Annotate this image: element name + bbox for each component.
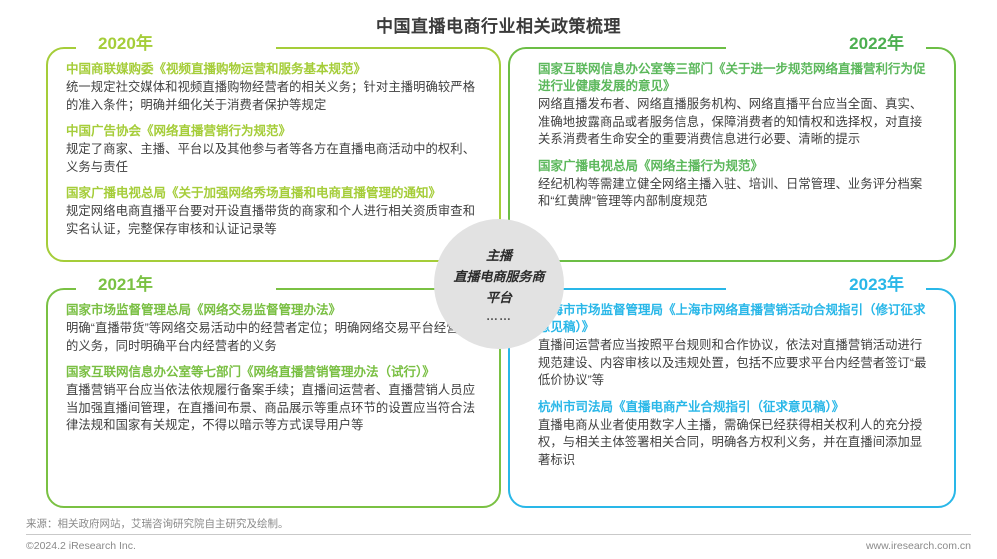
- hub-label-anchor: 主播: [486, 245, 512, 266]
- policy-title: 国家广播电视总局《网络主播行为规范》: [538, 158, 932, 175]
- policy-list-2022: 国家互联网信息办公室等三部门《关于进一步规范网络直播营利行为促进行业健康发展的意…: [510, 61, 954, 211]
- hub-label-platform: 平台: [486, 287, 512, 308]
- policy-list-2020: 中国商联媒购委《视频直播购物运营和服务基本规范》 统一规定社交媒体和视频直播购物…: [48, 61, 499, 238]
- policy-list-2023: 上海市市场监督管理局《上海市网络直播营销活动合规指引（修订征求意见稿）》 直播间…: [510, 302, 954, 469]
- policy-item: 国家市场监督管理总局《网络交易监督管理办法》 明确“直播带货”等网络交易活动中的…: [66, 302, 483, 355]
- policy-title: 国家广播电视总局《关于加强网络秀场直播和电商直播管理的通知》: [66, 185, 483, 202]
- policy-title: 国家互联网信息办公室等七部门《网络直播营销管理办法（试行）》: [66, 364, 483, 381]
- policy-description: 直播营销平台应当依法依规履行备案手续；直播间运营者、直播营销人员应当加强直播间管…: [66, 382, 483, 435]
- year-label-2022: 2022年: [849, 34, 904, 54]
- policy-card-2022: 2022年 国家互联网信息办公室等三部门《关于进一步规范网络直播营利行为促进行业…: [508, 47, 956, 262]
- center-hub-circle: 主播 直播电商服务商 平台 ……: [434, 219, 564, 349]
- policy-list-2021: 国家市场监督管理总局《网络交易监督管理办法》 明确“直播带货”等网络交易活动中的…: [48, 302, 499, 435]
- policy-item: 国家互联网信息办公室等七部门《网络直播营销管理办法（试行）》 直播营销平台应当依…: [66, 364, 483, 435]
- policy-item: 国家广播电视总局《关于加强网络秀场直播和电商直播管理的通知》 规定网络电商直播平…: [66, 185, 483, 238]
- policy-card-2020: 2020年 中国商联媒购委《视频直播购物运营和服务基本规范》 统一规定社交媒体和…: [46, 47, 501, 262]
- policy-title: 国家互联网信息办公室等三部门《关于进一步规范网络直播营利行为促进行业健康发展的意…: [538, 61, 932, 95]
- year-label-2023: 2023年: [849, 275, 904, 295]
- policy-description: 明确“直播带货”等网络交易活动中的经营者定位；明确网络交易平台经营者的义务，同时…: [66, 320, 483, 355]
- year-label-2020: 2020年: [98, 34, 153, 54]
- policy-title: 中国商联媒购委《视频直播购物运营和服务基本规范》: [66, 61, 483, 78]
- website-url: www.iresearch.com.cn: [866, 540, 971, 552]
- footer-divider: [26, 534, 971, 535]
- policy-item: 杭州市司法局《直播电商产业合规指引（征求意见稿）》 直播电商从业者使用数字人主播…: [538, 399, 932, 470]
- policy-item: 中国广告协会《网络直播营销行为规范》 规定了商家、主播、平台以及其他参与者等各方…: [66, 123, 483, 176]
- policy-description: 统一规定社交媒体和视频直播购物经营者的相关义务；针对主播明确较严格的准入条件；明…: [66, 79, 483, 114]
- policy-title: 上海市市场监督管理局《上海市网络直播营销活动合规指引（修订征求意见稿）》: [538, 302, 932, 336]
- policy-description: 直播间运营者应当按照平台规则和合作协议，依法对直播营销活动进行规范建设、内容审核…: [538, 337, 932, 390]
- policy-item: 国家互联网信息办公室等三部门《关于进一步规范网络直播营利行为促进行业健康发展的意…: [538, 61, 932, 149]
- copyright-text: ©2024.2 iResearch Inc.: [26, 540, 136, 552]
- policy-description: 网络直播发布者、网络直播服务机构、网络直播平台应当全面、真实、准确地披露商品或者…: [538, 96, 932, 149]
- policy-description: 经纪机构等需建立健全网络主播入驻、培训、日常管理、业务评分档案和“红黄牌”管理等…: [538, 176, 932, 211]
- year-label-2021: 2021年: [98, 275, 153, 295]
- policy-item: 上海市市场监督管理局《上海市网络直播营销活动合规指引（修订征求意见稿）》 直播间…: [538, 302, 932, 390]
- policy-title: 杭州市司法局《直播电商产业合规指引（征求意见稿）》: [538, 399, 932, 416]
- hub-label-service-provider: 直播电商服务商: [453, 266, 544, 287]
- policy-item: 国家广播电视总局《网络主播行为规范》 经纪机构等需建立健全网络主播入驻、培训、日…: [538, 158, 932, 211]
- policy-description: 直播电商从业者使用数字人主播，需确保已经获得相关权利人的充分授权，与相关主体签署…: [538, 417, 932, 470]
- policy-description: 规定网络电商直播平台要对开设直播带货的商家和个人进行相关资质审查和实名认证，完整…: [66, 203, 483, 238]
- policy-item: 中国商联媒购委《视频直播购物运营和服务基本规范》 统一规定社交媒体和视频直播购物…: [66, 61, 483, 114]
- hub-label-ellipsis: ……: [486, 309, 512, 323]
- policy-card-2021: 2021年 国家市场监督管理总局《网络交易监督管理办法》 明确“直播带货”等网络…: [46, 288, 501, 508]
- policy-card-2023: 2023年 上海市市场监督管理局《上海市网络直播营销活动合规指引（修订征求意见稿…: [508, 288, 956, 508]
- policy-description: 规定了商家、主播、平台以及其他参与者等各方在直播电商活动中的权利、义务与责任: [66, 141, 483, 176]
- source-note: 来源：相关政府网站，艾瑞咨询研究院自主研究及绘制。: [26, 516, 289, 531]
- policy-title: 国家市场监督管理总局《网络交易监督管理办法》: [66, 302, 483, 319]
- policy-title: 中国广告协会《网络直播营销行为规范》: [66, 123, 483, 140]
